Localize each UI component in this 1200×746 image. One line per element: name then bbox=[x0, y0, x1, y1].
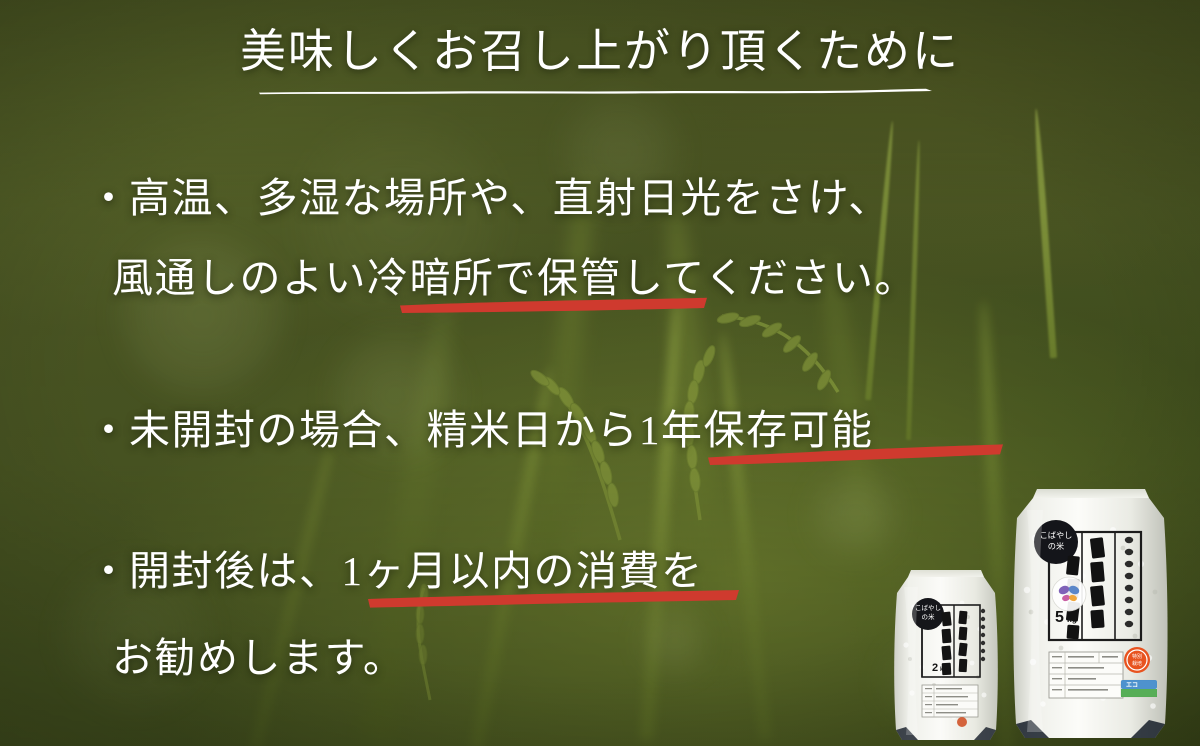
bullet-2-line-1: ・未開封の場合、精米日から1年保存可能 bbox=[88, 410, 874, 451]
bullet-marker: ・ bbox=[88, 175, 129, 221]
quality-seal-icon: 特別 栽培 bbox=[1124, 647, 1150, 673]
bullet-1-line-2: 風通しのよい冷暗所で保管してください。 bbox=[112, 258, 917, 299]
bullet-marker: ・ bbox=[88, 407, 129, 453]
bullet-3-text-2: お勧めします。 bbox=[112, 635, 405, 681]
product-rice-bag-2kg[interactable]: こばやし の米 2 kg bbox=[884, 567, 1009, 746]
svg-text:2: 2 bbox=[932, 662, 938, 674]
bullet-3-line-1: ・開封後は、1ヶ月以内の消費を bbox=[88, 551, 704, 592]
svg-text:特別: 特別 bbox=[1132, 653, 1142, 660]
svg-text:栽培: 栽培 bbox=[1132, 660, 1142, 667]
bullet-1-line-1: ・高温、多湿な場所や、直射日光をさけ、 bbox=[88, 178, 891, 219]
bullet-marker: ・ bbox=[88, 548, 129, 594]
bullet-1-text-2: 風通しのよい冷暗所で保管してください。 bbox=[112, 255, 917, 301]
svg-text:の米: の米 bbox=[1048, 541, 1064, 551]
product-rice-bag-5kg[interactable]: こばやし の米 bbox=[1003, 486, 1181, 746]
bullet-1-text-1: 高温、多湿な場所や、直射日光をさけ、 bbox=[129, 175, 891, 221]
promo-banner: 美味しくお召し上がり頂くために ・高温、多湿な場所や、直射日光をさけ、 風通しの… bbox=[0, 0, 1200, 746]
svg-text:5: 5 bbox=[1055, 609, 1064, 626]
bullet-3-text-1: 開封後は、1ヶ月以内の消費を bbox=[129, 548, 704, 594]
svg-text:こばやし: こばやし bbox=[1040, 531, 1073, 540]
svg-text:こばやし: こばやし bbox=[915, 603, 941, 612]
rice-bag-2kg-graphic: こばやし の米 2 kg bbox=[884, 567, 1009, 746]
eco-label-icon: エコ bbox=[1121, 680, 1157, 697]
svg-text:エコ: エコ bbox=[1126, 682, 1138, 689]
bullet-2-text-1: 未開封の場合、精米日から1年保存可能 bbox=[129, 407, 874, 453]
svg-text:kg: kg bbox=[1067, 614, 1077, 624]
svg-text:の米: の米 bbox=[922, 612, 936, 621]
bullet-3-line-2: お勧めします。 bbox=[112, 638, 405, 679]
headline-block: 美味しくお召し上がり頂くために bbox=[0, 28, 1200, 76]
rice-bag-5kg-graphic: こばやし の米 bbox=[1003, 486, 1181, 746]
svg-text:kg: kg bbox=[940, 667, 947, 673]
page-title: 美味しくお召し上がり頂くために bbox=[240, 28, 960, 76]
